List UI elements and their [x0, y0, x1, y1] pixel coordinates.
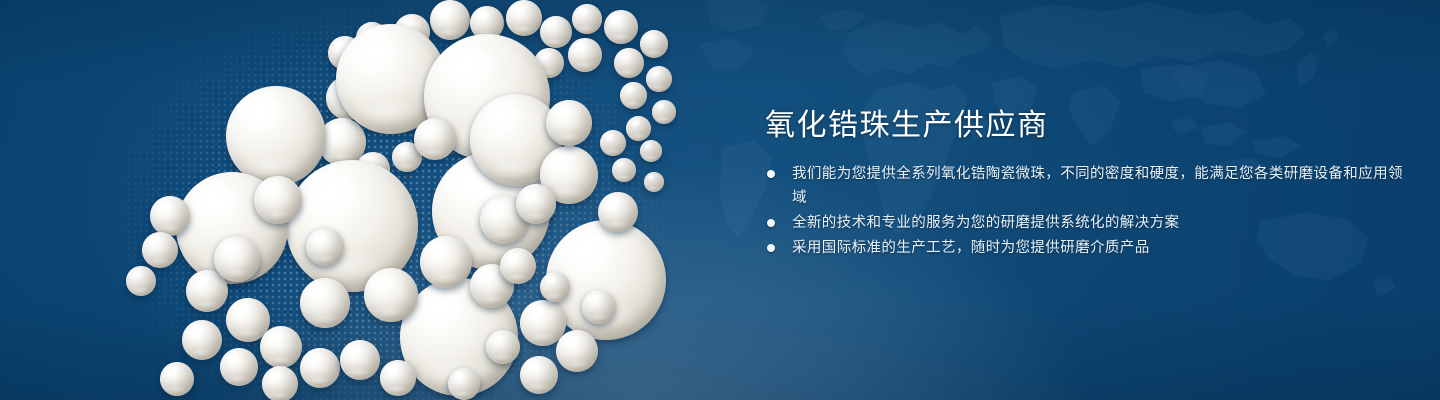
feature-bullet-list: 我们能为您提供全系列氧化锆陶瓷微珠，不同的密度和硬度，能满足您各类研磨设备和应用…	[765, 162, 1405, 260]
bullet-dot-icon	[767, 219, 775, 227]
bullet-text: 我们能为您提供全系列氧化锆陶瓷微珠，不同的密度和硬度，能满足您各类研磨设备和应用…	[792, 166, 1403, 206]
banner-headline: 氧化锆珠生产供应商	[765, 106, 1405, 146]
bullet-text: 采用国际标准的生产工艺，随时为您提供研磨介质产品	[792, 240, 1150, 256]
promo-banner: 氧化锆珠生产供应商 我们能为您提供全系列氧化锆陶瓷微珠，不同的密度和硬度，能满足…	[0, 0, 1440, 400]
bullet-dot-icon	[767, 170, 775, 178]
banner-copy: 氧化锆珠生产供应商 我们能为您提供全系列氧化锆陶瓷微珠，不同的密度和硬度，能满足…	[765, 106, 1405, 261]
bullet-text: 全新的技术和专业的服务为您的研磨提供系统化的解决方案	[792, 215, 1179, 231]
list-item: 采用国际标准的生产工艺，随时为您提供研磨介质产品	[765, 236, 1405, 260]
list-item: 全新的技术和专业的服务为您的研磨提供系统化的解决方案	[765, 211, 1405, 235]
list-item: 我们能为您提供全系列氧化锆陶瓷微珠，不同的密度和硬度，能满足您各类研磨设备和应用…	[765, 162, 1405, 210]
bullet-dot-icon	[767, 244, 775, 252]
